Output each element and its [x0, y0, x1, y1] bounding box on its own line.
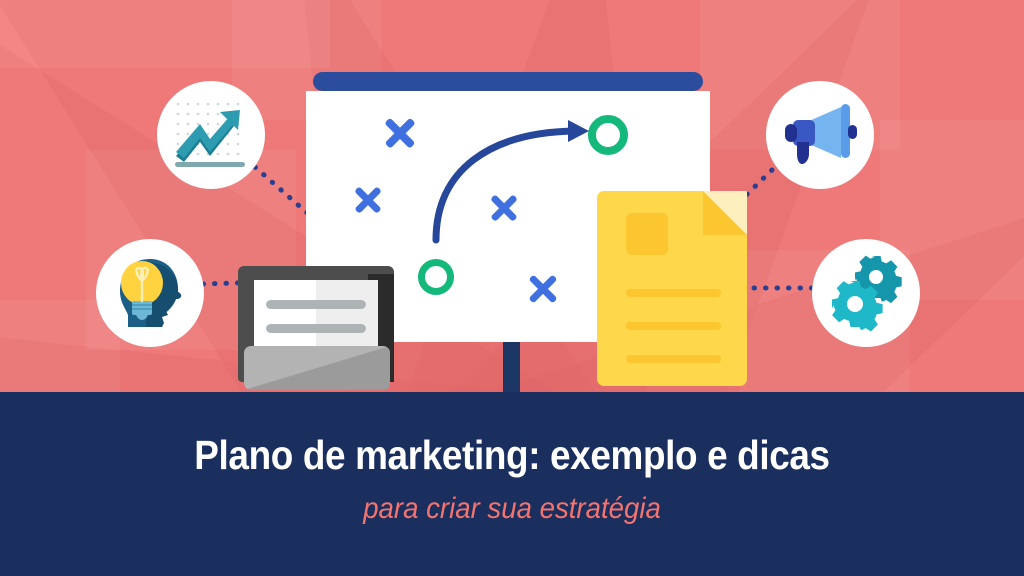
strategy-x-mark — [526, 272, 560, 306]
document-text-line — [626, 289, 721, 297]
title-banner — [0, 392, 1024, 576]
page-subtitle: para criar sua estratégia — [41, 492, 983, 526]
growth-chart-bubble[interactable] — [157, 81, 265, 189]
megaphone-bubble[interactable] — [766, 81, 874, 189]
page-title: Plano de marketing: exemplo e dicas — [51, 432, 973, 479]
gears-icon — [828, 255, 904, 331]
document-thumbnail-block — [626, 213, 668, 255]
folder-illustration — [238, 266, 394, 390]
strategy-o-mark — [588, 115, 628, 155]
idea-head-icon — [110, 253, 190, 333]
document-text-line — [626, 322, 721, 330]
poster-canvas: Plano de marketing: exemplo e dicas para… — [0, 0, 1024, 576]
strategy-x-mark — [488, 192, 520, 224]
strategy-x-mark — [382, 115, 418, 151]
growth-chart-icon — [172, 98, 250, 172]
whiteboard-stand-leg — [503, 340, 520, 392]
whiteboard-header-bar — [313, 72, 703, 91]
document-illustration — [597, 191, 747, 386]
document-text-line — [626, 355, 721, 363]
gears-bubble[interactable] — [812, 239, 920, 347]
idea-head-bubble[interactable] — [96, 239, 204, 347]
strategy-x-mark — [352, 184, 384, 216]
strategy-o-mark — [418, 259, 454, 295]
megaphone-icon — [781, 100, 859, 170]
